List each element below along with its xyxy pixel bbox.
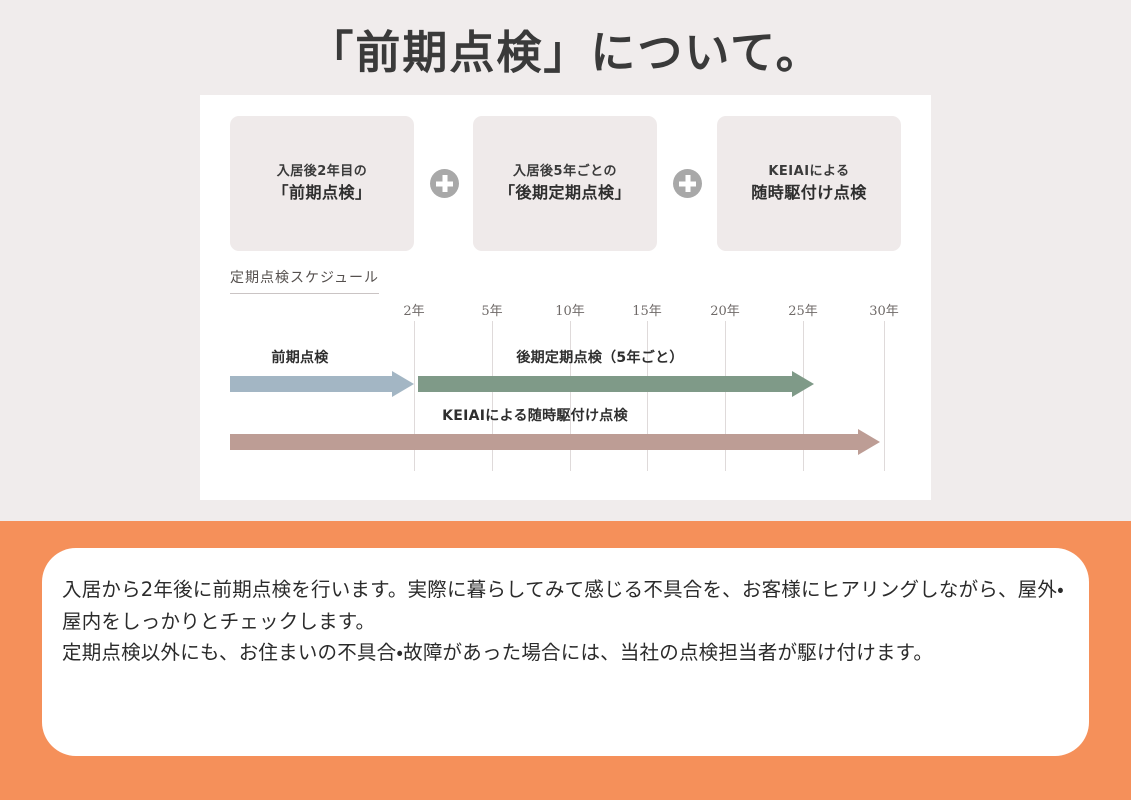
note-paragraph: 定期点検以外にも、お住まいの不具合・故障があった場合には、当社の点検担当者が駆け… <box>62 637 1069 669</box>
category-box-subtitle: 入居後2年目の <box>277 162 368 182</box>
timeline-gridline <box>884 321 885 471</box>
arrow-label-periodic-inspection: 後期定期点検（5年ごと） <box>516 347 683 367</box>
category-box-periodic-inspection: 入居後5年ごとの 「後期定期点検」 <box>473 116 657 251</box>
inspection-diagram-panel: 入居後2年目の 「前期点検」 入居後5年ごとの 「後期定期点検」 KEIAIによ… <box>200 95 931 500</box>
plus-icon <box>673 169 702 198</box>
arrow-label-early-inspection: 前期点検 <box>271 347 328 367</box>
timeline-tick-label: 10年 <box>555 300 585 319</box>
timeline-arrow-periodic-inspection <box>418 371 814 397</box>
category-box-row: 入居後2年目の 「前期点検」 入居後5年ごとの 「後期定期点検」 KEIAIによ… <box>230 116 901 251</box>
category-box-oncall-inspection: KEIAIによる 随時駆付け点検 <box>717 116 901 251</box>
plus-icon <box>430 169 459 198</box>
timeline-arrow-early-inspection <box>230 371 414 397</box>
category-box-early-inspection: 入居後2年目の 「前期点検」 <box>230 116 414 251</box>
arrow-shaft <box>418 376 792 392</box>
arrow-head <box>858 429 880 455</box>
timeline-tick-label: 25年 <box>788 300 818 319</box>
arrow-head <box>392 371 414 397</box>
timeline-arrow-oncall-inspection <box>230 429 880 455</box>
category-box-title: 「前期点検」 <box>272 181 371 205</box>
timeline-tick-label: 20年 <box>710 300 740 319</box>
schedule-heading: 定期点検スケジュール <box>230 267 379 294</box>
page-title: 「前期点検」について。 <box>0 16 1131 81</box>
description-note-card: 入居から2年後に前期点検を行います。実際に暮らしてみて感じる不具合を、お客様にヒ… <box>42 548 1089 756</box>
note-paragraph: 入居から2年後に前期点検を行います。実際に暮らしてみて感じる不具合を、お客様にヒ… <box>62 574 1069 637</box>
timeline-tick-label: 15年 <box>632 300 662 319</box>
timeline-tick-label: 30年 <box>869 300 899 319</box>
arrow-head <box>792 371 814 397</box>
category-box-subtitle: KEIAIによる <box>768 162 849 182</box>
category-box-title: 随時駆付け点検 <box>751 181 867 205</box>
arrow-shaft <box>230 376 392 392</box>
arrow-label-oncall-inspection: KEIAIによる随時駆付け点検 <box>442 405 628 425</box>
arrow-shaft <box>230 434 858 450</box>
category-box-title: 「後期定期点検」 <box>499 181 631 205</box>
timeline-tick-label: 2年 <box>403 300 424 319</box>
category-box-subtitle: 入居後5年ごとの <box>513 162 617 182</box>
timeline-tick-label: 5年 <box>481 300 502 319</box>
schedule-timeline: 2年 5年 10年 15年 20年 25年 30年 前期点検 後期定期点検（5年… <box>200 300 931 475</box>
